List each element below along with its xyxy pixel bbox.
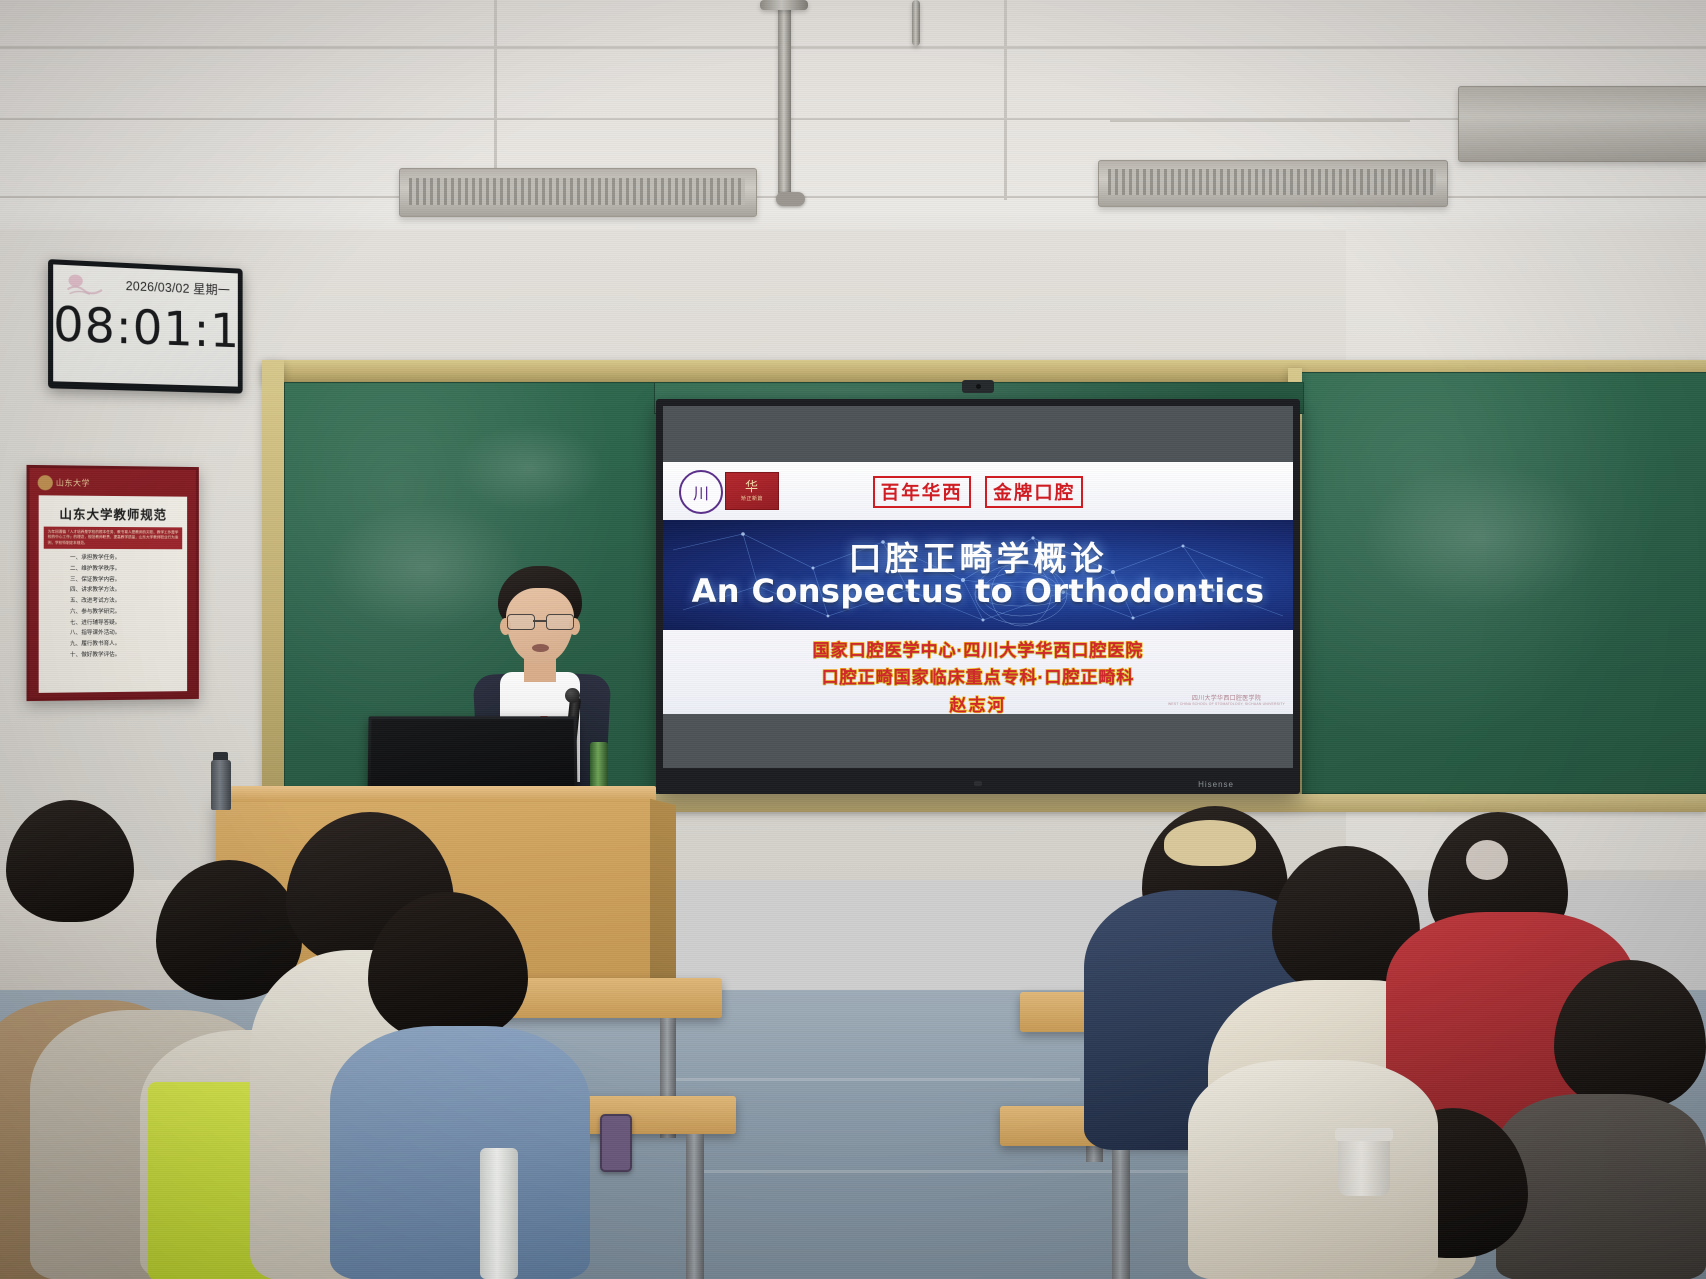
hair-bow [1164,820,1256,866]
microphone-head-icon [565,688,580,703]
display-panel: 川 华 矫正新篇 百年华西 金牌口腔 [663,406,1293,768]
affiliation-line-2: 口腔正畸国家临床重点专科·口腔正畸科 [663,661,1293,688]
ir-receiver-icon [974,781,982,786]
teacher-standards-poster: 山东大学 山东大学教师规范 为年回遵循「人才培养是学校的根本任务、教书育人是教师… [27,465,199,701]
poster-item: 六、参与教学研究。 [70,607,182,618]
poster-item: 八、指导课外活动。 [70,628,182,639]
watermark-chinese: 四川大学华西口腔医学院 [1168,693,1285,702]
poster-title: 山东大学教师规范 [44,503,182,523]
duct-grille-left [409,178,745,205]
ceiling-pipe-horizontal [760,0,808,10]
mouth [532,644,549,652]
clock-date: 2026/03/02 星期一 [126,275,230,299]
coffee-cup [1338,1136,1390,1196]
poster-item: 七、进行辅导答疑。 [70,617,182,628]
poster-item: 九、履行教书育人。 [70,639,182,650]
watermark-english: WEST CHINA SCHOOL OF STOMATOLOGY, SICHUA… [1168,702,1285,706]
sprinkler-head [776,192,805,206]
ceiling-pipe-vertical [778,0,791,196]
water-bottle-foreground [480,1148,518,1279]
poster-item: 五、改进考试方法。 [70,596,182,607]
smartphone[interactable] [600,1114,632,1172]
display-brand: Hisense [1198,780,1234,789]
poster-item: 三、保证教学内容。 [70,575,182,586]
slide-header: 川 华 矫正新篇 百年华西 金牌口腔 [663,462,1293,520]
bench-leg [1112,1146,1130,1279]
thermos-flask [211,760,231,810]
chalk-tray-right [654,794,1706,812]
ceiling-pipe-small [912,0,920,46]
blackboard-frame-left [262,360,284,830]
duct-grille-right [1108,169,1436,195]
university-seal-icon [38,475,53,490]
slide-footer: 国家口腔医学中心·四川大学华西口腔医院 口腔正畸国家临床重点专科·口腔正畸科 赵… [663,630,1293,714]
poster-item: 十、做好教学评估。 [70,649,182,661]
digital-clock-display: 2026/03/02 星期一 08:01:19 [48,259,243,394]
podium-top-surface [212,786,656,802]
student-body [330,1026,590,1279]
ceiling-duct-far-right [1458,86,1706,162]
blackboard-wing-right [1300,372,1706,794]
eyeglasses-icon [507,614,573,629]
lecture-hall-photo: 2026/03/02 星期一 08:01:19 山东大学 山东大学教师规范 为年… [0,0,1706,1279]
poster-item: 二、维护教学秩序。 [70,564,182,575]
ceiling-panel-joint [1110,120,1410,122]
classroom-display[interactable]: 川 华 矫正新篇 百年华西 金牌口腔 [656,399,1300,794]
camera-icon [962,380,994,393]
slogan-right: 金牌口腔 [985,476,1083,508]
bench-leg [686,1134,704,1279]
slide-title-band: 口腔正畸学概论 An Conspectus to Orthodontics [663,520,1293,630]
clock-screen: 2026/03/02 星期一 08:01:19 [53,264,238,386]
poster-intro: 为年回遵循「人才培养是学校的根本任务、教书育人是教师的天职、教学工作是学校的中心… [44,527,182,550]
poster-university-name: 山东大学 [56,477,90,488]
coffee-cup-lid [1335,1128,1393,1141]
poster-item: 一、承担教学任务。 [70,553,182,564]
hair-scrunchie [1466,840,1508,880]
poster-item: 四、讲求教学方法。 [70,585,182,596]
slogan-left: 百年华西 [873,476,971,508]
presentation-slide: 川 华 矫正新篇 百年华西 金牌口腔 [663,462,1293,714]
slide-title-english: An Conspectus to Orthodontics [663,572,1293,610]
student-body [1188,1060,1438,1279]
poster-header: 山东大学 [38,472,90,494]
affiliation-line-1: 国家口腔医学中心·四川大学华西口腔医院 [663,630,1293,661]
clock-time: 08:01:19 [53,297,238,359]
podium-side-panel [650,799,676,993]
school-watermark: 四川大学华西口腔医学院 WEST CHINA SCHOOL OF STOMATO… [1168,693,1285,706]
poster-item-list: 一、承担教学任务。 二、维护教学秩序。 三、保证教学内容。 四、讲求教学方法。 … [44,553,182,661]
poster-body: 山东大学教师规范 为年回遵循「人才培养是学校的根本任务、教书育人是教师的天职、教… [39,495,187,693]
slide-slogan: 百年华西 金牌口腔 [663,476,1293,508]
